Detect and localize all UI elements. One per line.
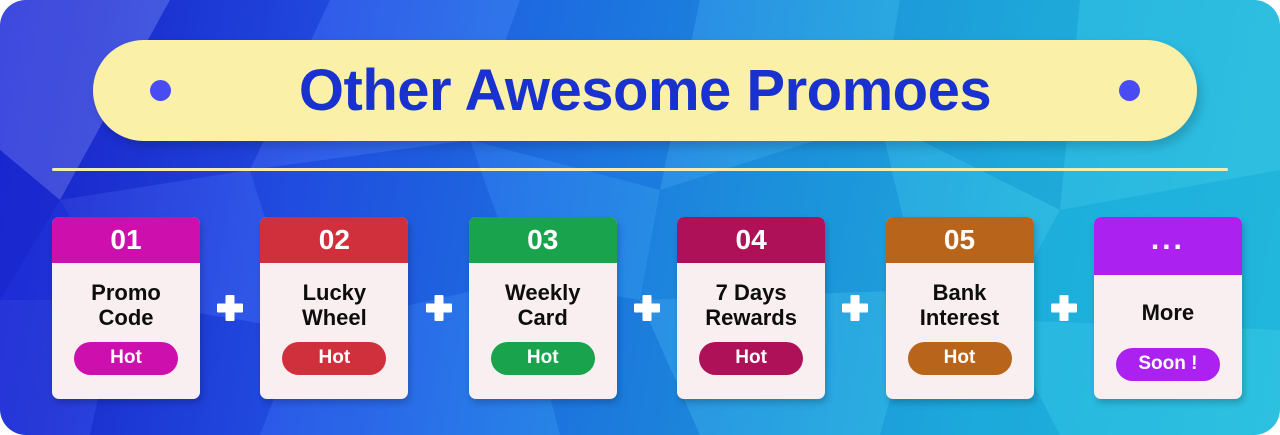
promo-card-03[interactable]: 03 Weekly Card Hot: [469, 217, 617, 399]
promo-banner: Other Awesome Promoes 01 Promo Code Hot …: [0, 0, 1280, 435]
title-pill: Other Awesome Promoes: [93, 40, 1197, 141]
plus-separator-icon: [213, 291, 247, 325]
pill-dot-right-icon: [1119, 80, 1140, 101]
card-title: More: [1142, 301, 1195, 326]
promo-card-02[interactable]: 02 Lucky Wheel Hot: [260, 217, 408, 399]
card-body: Promo Code Hot: [52, 263, 200, 399]
card-body: 7 Days Rewards Hot: [677, 263, 825, 399]
card-body: Weekly Card Hot: [469, 263, 617, 399]
promo-card-more[interactable]: ... More Soon !: [1094, 217, 1242, 399]
card-title: Bank Interest: [920, 281, 999, 330]
status-badge: Hot: [699, 342, 803, 375]
promo-card-01[interactable]: 01 Promo Code Hot: [52, 217, 200, 399]
card-number-badge: 05: [886, 217, 1034, 263]
card-number-badge: 04: [677, 217, 825, 263]
promo-cards-row: 01 Promo Code Hot 02 Lucky Wheel Hot 03 …: [52, 217, 1242, 399]
card-title: Promo Code: [91, 281, 161, 330]
status-badge: Soon !: [1116, 348, 1220, 381]
status-badge: Hot: [908, 342, 1012, 375]
plus-separator-icon: [630, 291, 664, 325]
status-badge: Hot: [491, 342, 595, 375]
card-number-badge: 02: [260, 217, 408, 263]
status-badge: Hot: [282, 342, 386, 375]
pill-dot-left-icon: [150, 80, 171, 101]
promo-card-05[interactable]: 05 Bank Interest Hot: [886, 217, 1034, 399]
card-number-badge: 01: [52, 217, 200, 263]
card-title: Lucky Wheel: [302, 281, 367, 330]
promo-card-04[interactable]: 04 7 Days Rewards Hot: [677, 217, 825, 399]
plus-separator-icon: [422, 291, 456, 325]
divider: [52, 168, 1228, 171]
card-body: Lucky Wheel Hot: [260, 263, 408, 399]
card-body: More Soon !: [1094, 275, 1242, 399]
card-title: 7 Days Rewards: [705, 281, 797, 330]
page-title: Other Awesome Promoes: [171, 62, 1119, 120]
card-body: Bank Interest Hot: [886, 263, 1034, 399]
status-badge: Hot: [74, 342, 178, 375]
ellipsis-icon: ...: [1094, 217, 1242, 275]
card-number-badge: 03: [469, 217, 617, 263]
card-title: Weekly Card: [505, 281, 580, 330]
plus-separator-icon: [838, 291, 872, 325]
plus-separator-icon: [1047, 291, 1081, 325]
